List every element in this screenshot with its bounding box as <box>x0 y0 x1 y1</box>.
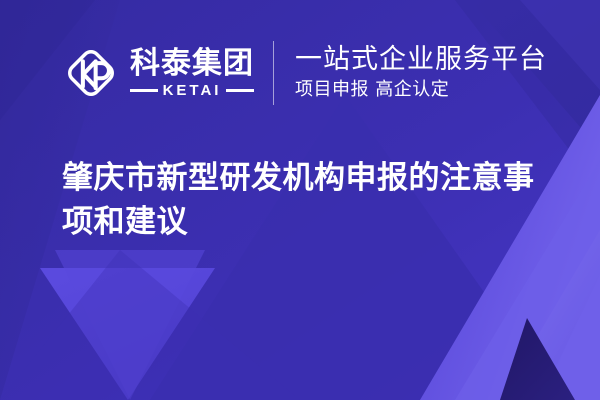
brand-logo[interactable]: 科泰集团 KETAI <box>62 38 254 108</box>
brand-name-cn: 科泰集团 <box>130 48 254 80</box>
tagline-primary: 一站式企业服务平台 <box>295 44 547 75</box>
brand-wordmark: 科泰集团 KETAI <box>130 48 254 98</box>
banner-header: 科泰集团 KETAI 一站式企业服务平台 项目申报 高企认定 <box>62 38 547 108</box>
header-divider <box>273 41 274 105</box>
banner-title: 肇庆市新型研发机构申报的注意事项和建议 <box>62 156 562 244</box>
promo-banner: 科泰集团 KETAI 一站式企业服务平台 项目申报 高企认定 肇庆市新型研发机构… <box>0 0 600 400</box>
wordmark-dash-right <box>226 89 254 92</box>
ketai-kp-monogram-icon <box>62 44 120 102</box>
tagline-secondary: 项目申报 高企认定 <box>295 78 547 102</box>
tagline-block: 一站式企业服务平台 项目申报 高企认定 <box>295 44 547 102</box>
wordmark-dash-left <box>130 89 158 92</box>
brand-name-en-row: KETAI <box>130 83 254 98</box>
brand-name-en: KETAI <box>158 83 227 98</box>
